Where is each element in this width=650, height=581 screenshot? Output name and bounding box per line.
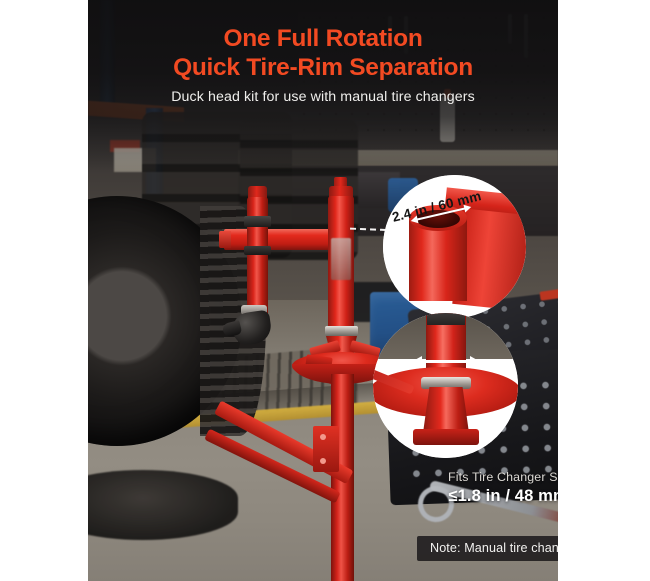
product-marketing-image: One Full Rotation Quick Tire-Rim Separat… bbox=[0, 0, 650, 581]
headline-line-1: One Full Rotation bbox=[88, 24, 558, 53]
tool-arm-end-cap bbox=[219, 231, 231, 248]
product-photo: One Full Rotation Quick Tire-Rim Separat… bbox=[88, 0, 558, 581]
callout-spindle-fit bbox=[373, 313, 518, 458]
zoom-foot bbox=[413, 429, 479, 445]
dimension-arrow-icon bbox=[421, 360, 471, 363]
right-white-margin bbox=[558, 0, 650, 581]
bolt-icon bbox=[320, 458, 326, 464]
disclaimer-note: Note: Manual tire changer not included bbox=[417, 536, 558, 561]
tire-shadow bbox=[88, 470, 238, 540]
callout-bore-diameter: 2.4 in / 60 mm bbox=[383, 175, 526, 318]
subheadline: Duck head kit for use with manual tire c… bbox=[88, 89, 558, 105]
zoom-cone bbox=[423, 387, 469, 433]
left-white-margin bbox=[0, 0, 88, 581]
spindle-fit-caption: Fits Tire Changer Spindles bbox=[418, 470, 558, 484]
tool-clamp bbox=[244, 246, 271, 255]
headline: One Full Rotation Quick Tire-Rim Separat… bbox=[88, 24, 558, 82]
tool-horizontal-arm bbox=[224, 229, 340, 250]
tool-leg-bracket bbox=[313, 426, 339, 472]
headline-line-2: Quick Tire-Rim Separation bbox=[88, 53, 558, 82]
zoom-spindle-cap bbox=[427, 313, 465, 325]
spindle-fit-value: ≤1.8 in / 48 mm OD bbox=[418, 486, 558, 506]
tool-brand-label bbox=[331, 238, 351, 280]
tool-clamp bbox=[244, 216, 271, 227]
tool-chrome-collar bbox=[325, 326, 358, 336]
bolt-icon bbox=[320, 434, 326, 440]
